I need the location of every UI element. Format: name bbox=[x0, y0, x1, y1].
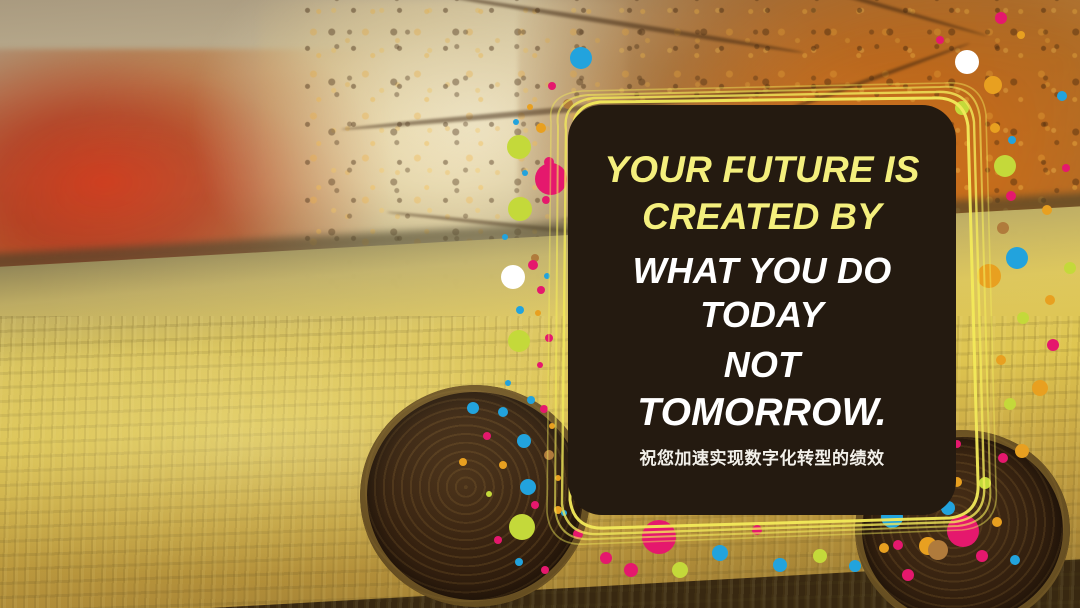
quote-panel: YOUR FUTURE IS CREATED BY WHAT YOU DO TO… bbox=[568, 105, 956, 515]
quote-line-4: TODAY bbox=[582, 296, 942, 333]
subtitle-chinese: 祝您加速实现数字化转型的绩效 bbox=[582, 444, 942, 469]
quote-line-1: YOUR FUTURE IS bbox=[582, 151, 942, 189]
quote-line-3: WHAT YOU DO bbox=[582, 252, 942, 289]
quote-line-2: CREATED BY bbox=[582, 198, 942, 236]
quote-line-6: TOMORROW. bbox=[582, 393, 942, 434]
quote-frame: YOUR FUTURE IS CREATED BY WHAT YOU DO TO… bbox=[540, 78, 1010, 538]
quote-card: YOUR FUTURE IS CREATED BY WHAT YOU DO TO… bbox=[0, 0, 1080, 608]
quote-line-5: NOT bbox=[582, 346, 942, 383]
